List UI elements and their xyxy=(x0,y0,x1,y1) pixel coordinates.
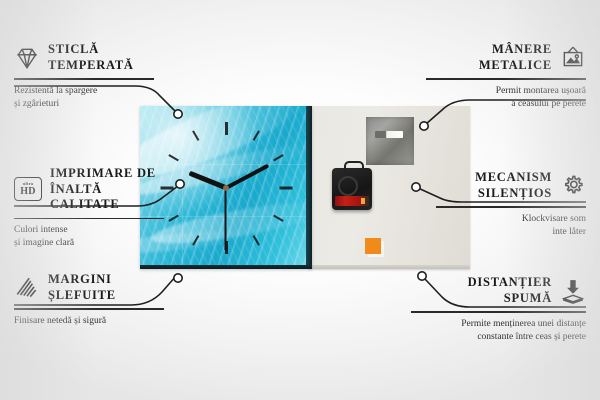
metal-hanger-plate xyxy=(366,117,414,165)
callout-title: MARGINI ȘLEFUITE xyxy=(48,272,116,303)
callout-rule xyxy=(14,218,164,220)
polished-edges-icon xyxy=(14,275,40,301)
callout-title: MÂNERE METALICE xyxy=(479,42,552,73)
callout-rule xyxy=(14,308,164,310)
connector-dot-polished-edges xyxy=(174,274,182,282)
aa-battery xyxy=(335,196,369,206)
picture-frame-hanger-icon xyxy=(560,45,586,71)
diamond-icon xyxy=(14,45,40,71)
callout-polished-edges: MARGINI ȘLEFUITE Finisare netedă și sigu… xyxy=(14,272,164,328)
ultra-hd-badge-icon: ultra HD xyxy=(14,177,42,201)
callout-title: IMPRIMARE DE ÎNALTĂ CALITATE xyxy=(50,166,164,213)
callout-title: STICLĂ TEMPERATĂ xyxy=(48,42,134,73)
callout-title: DISTANȚIER SPUMĂ xyxy=(468,275,552,306)
mechanism-dial xyxy=(338,176,358,196)
callout-subtitle: Culori intense și imagine clară xyxy=(14,224,164,250)
callout-subtitle: Rezistentă la spargere și zgârieturi xyxy=(14,85,154,111)
callout-high-quality-print: ultra HD IMPRIMARE DE ÎNALTĂ CALITATE Cu… xyxy=(14,166,164,250)
infographic-canvas: STICLĂ TEMPERATĂ Rezistentă la spargere … xyxy=(0,0,600,400)
callout-subtitle: Permite menținerea unei distanțe constan… xyxy=(411,318,586,344)
callout-rule xyxy=(426,78,586,80)
clock-minute-hand xyxy=(225,163,269,189)
callout-subtitle: Klockvisare som inte låter xyxy=(436,213,586,239)
clock-dial xyxy=(140,106,312,269)
callout-tempered-glass: STICLĂ TEMPERATĂ Rezistentă la spargere … xyxy=(14,42,154,110)
callout-rule xyxy=(411,311,586,313)
clock-face-panel xyxy=(140,106,312,269)
gear-icon xyxy=(560,173,586,199)
callout-silent-mechanism: MECANISM SILENȚIOS Klockvisare som inte … xyxy=(436,170,586,238)
callout-subtitle: Finisare netedă și sigură xyxy=(14,315,164,328)
callout-rule xyxy=(14,78,154,80)
callout-rule xyxy=(436,206,586,208)
product-image xyxy=(140,106,470,271)
clock-hour-hand xyxy=(188,170,227,190)
callout-subtitle: Permit montarea ușoară a ceasului pe per… xyxy=(426,85,586,111)
glass-edge-bottom xyxy=(140,265,312,269)
callout-foam-spacer: DISTANȚIER SPUMĂ Permite menținerea unei… xyxy=(411,275,586,343)
callout-metal-handles: MÂNERE METALICE Permit montarea ușoară a… xyxy=(426,42,586,110)
glass-edge xyxy=(306,106,312,269)
quartz-clock-mechanism xyxy=(332,168,372,210)
clock-center-cap xyxy=(223,185,229,191)
hanger-loop xyxy=(344,161,364,173)
hanger-slot xyxy=(375,131,403,138)
callout-title: MECANISM SILENȚIOS xyxy=(475,170,552,201)
orange-foam-spacer xyxy=(365,238,381,254)
arrow-down-pad-icon xyxy=(560,278,586,304)
